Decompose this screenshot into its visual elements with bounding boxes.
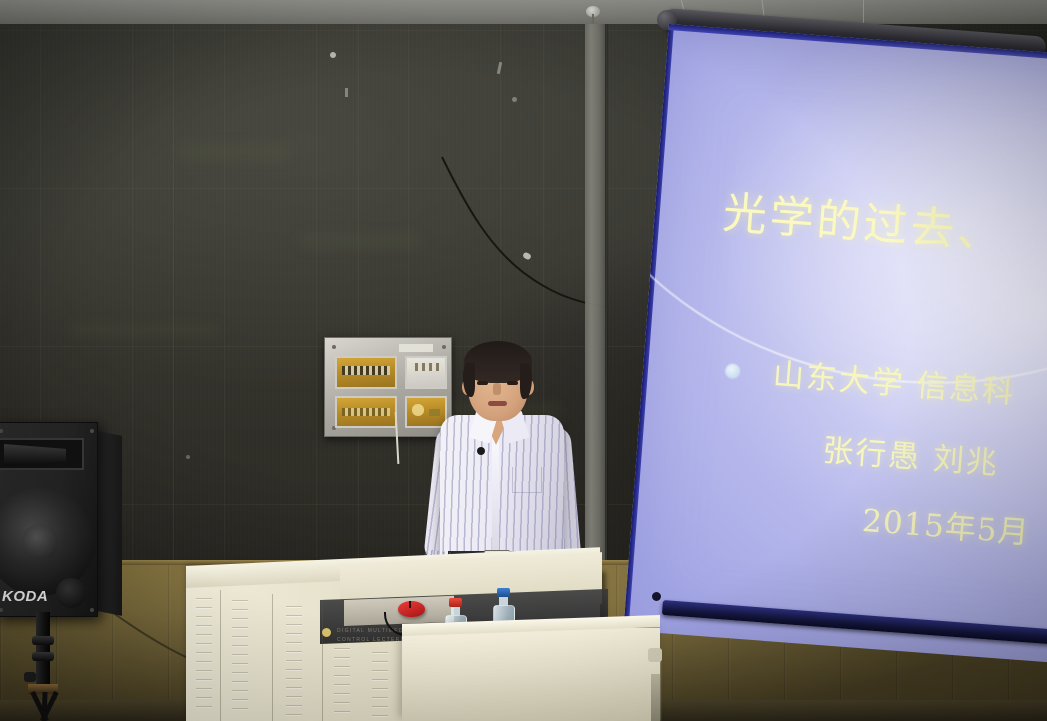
lectern-vents xyxy=(372,652,388,718)
speaker-dustcap xyxy=(22,524,58,560)
lectern-brand-line2: CONTROL LECTERN xyxy=(337,636,411,645)
lecture-hall-photo: 光学的过去、 山东大学 信息科 张行愚 刘兆 2015年5月 KODA xyxy=(0,0,1047,721)
projection-screen: 光学的过去、 山东大学 信息科 张行愚 刘兆 2015年5月 xyxy=(655,0,1047,660)
lectern-logo-icon xyxy=(322,628,331,637)
lectern-vents xyxy=(286,606,302,718)
wall-fleck xyxy=(345,88,348,97)
wall-cable-icon xyxy=(438,155,658,345)
wall-fleck xyxy=(512,97,517,102)
speaker-bass-port xyxy=(56,578,86,608)
speaker-horn-tweeter xyxy=(0,438,84,470)
breaker-window xyxy=(335,356,397,389)
slide-title: 光学的过去、 xyxy=(721,177,1007,262)
shirt xyxy=(440,415,564,565)
stand-collar xyxy=(32,636,54,645)
lectern-vents xyxy=(196,598,212,713)
lectern-vents xyxy=(232,600,248,715)
speaker-stand-pole xyxy=(36,612,50,690)
lectern-vents xyxy=(334,648,350,718)
bullet-dot-icon xyxy=(725,363,741,379)
screen-wall-hook xyxy=(652,592,661,601)
breaker-window xyxy=(335,396,397,428)
lapel-mic-icon xyxy=(477,447,485,455)
lectern-side-edge xyxy=(651,674,660,721)
speaker-brand-label: KODA xyxy=(2,588,48,605)
wall-fleck xyxy=(330,52,336,58)
slide-line-affiliation: 山东大学 信息科 xyxy=(772,349,1018,412)
eye-right xyxy=(507,381,518,385)
lectern-front-panel xyxy=(402,628,660,721)
shirt-pocket xyxy=(512,467,542,493)
slide-line-authors: 张行愚 刘兆 xyxy=(821,425,1001,483)
wall-fleck xyxy=(186,455,190,459)
slide-line-date: 2015年5月 xyxy=(861,495,1032,552)
stand-adjust-knob[interactable] xyxy=(24,672,36,682)
mouth xyxy=(488,401,507,406)
eye-left xyxy=(477,381,488,385)
lectern-side-knob[interactable] xyxy=(648,648,662,662)
shirt-placket xyxy=(492,431,499,553)
stand-collar xyxy=(32,652,54,661)
nose xyxy=(493,383,501,395)
